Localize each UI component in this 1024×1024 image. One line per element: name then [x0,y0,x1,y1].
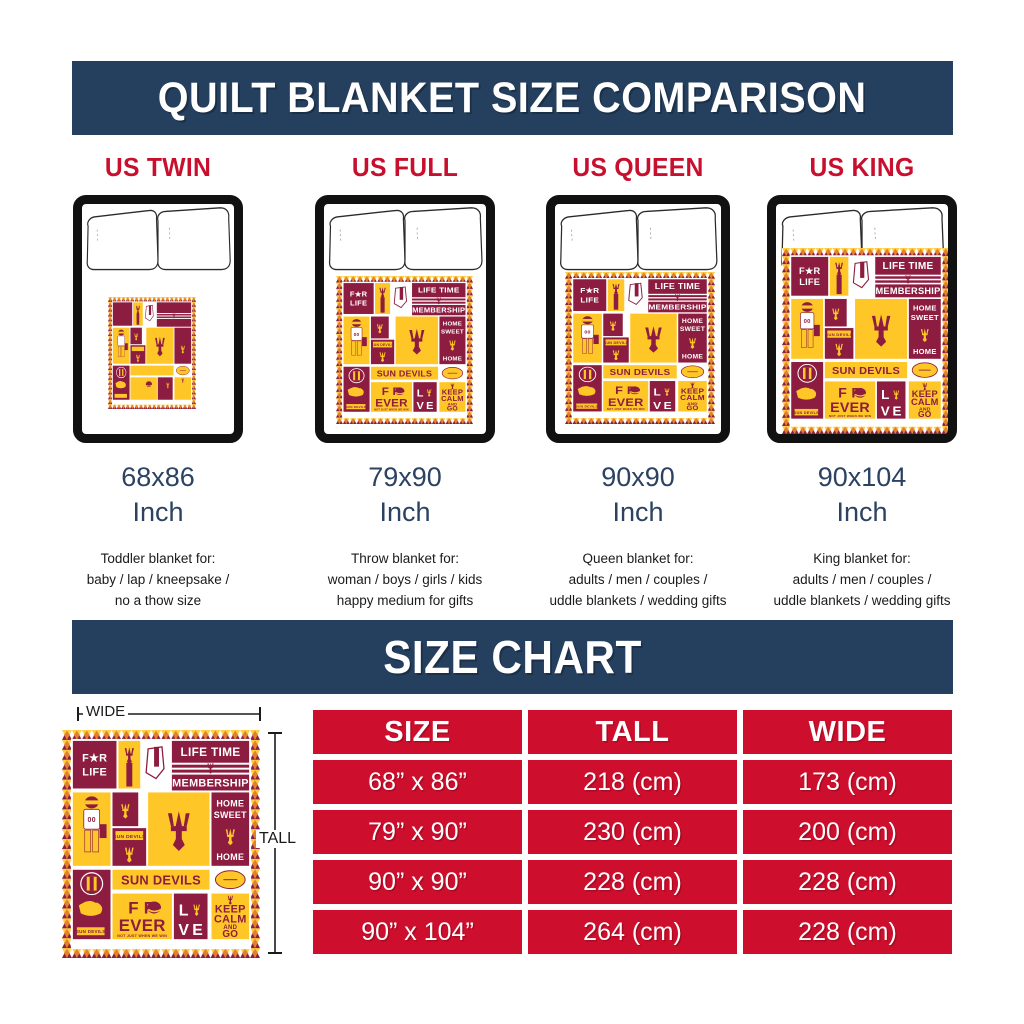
size-description-twin: Toddler blanket for: baby / lap / kneeps… [44,549,272,612]
size-dimensions-queen: 90x90Inch [524,460,752,529]
size-title-full: US FULL [297,152,514,183]
bed-illustration-queen: F★R LIFE LIFE TIME MEMBERSHIP 00 [546,195,730,443]
helmet-icon [630,386,641,394]
svg-text:SUN DEVILS: SUN DEVILS [576,405,598,409]
table-cell-size: 90” x 104” [313,910,522,954]
svg-text:HOME: HOME [443,322,462,328]
svg-text:CALM: CALM [911,397,939,407]
table-cell-wide: 228 (cm) [743,860,952,904]
svg-text:LIFE TIME: LIFE TIME [180,745,240,759]
size-description-queen: Queen blanket for: adults / men / couple… [524,549,752,612]
svg-text:LIFE TIME: LIFE TIME [418,286,460,295]
table-cell-tall: 264 (cm) [528,910,737,954]
svg-text:SWEET: SWEET [214,810,247,820]
top-banner-title: QUILT BLANKET SIZE COMPARISON [158,74,867,123]
sun-devils-quilt-art: F★R LIFE LIFE TIME MEMBERSHIP 00 [782,248,950,434]
svg-text:SUN DEVILS: SUN DEVILS [610,368,671,377]
football-icon [176,366,189,375]
svg-text:GO: GO [222,929,238,940]
table-cell-wide: 173 (cm) [743,760,952,804]
svg-text:CALM: CALM [214,913,247,925]
svg-text:SWEET: SWEET [911,313,939,322]
pillows-icon [555,206,721,280]
size-chart-banner-title: SIZE CHART [383,630,642,684]
svg-text:GO: GO [447,406,458,413]
size-title-queen: US QUEEN [530,152,747,183]
sun-devils-quilt-art: F★R LIFE LIFE TIME MEMBERSHIP 00 [565,272,715,424]
svg-text:HOME: HOME [913,347,937,356]
svg-text:EVER: EVER [608,396,644,409]
sun-devils-quilt-art: F★R LIFE LIFE TIME MEMBERSHIP 00 [336,276,473,424]
svg-text:LIFE: LIFE [350,299,367,308]
svg-text:SUN DEVILS: SUN DEVILS [346,405,367,409]
svg-text:F★R: F★R [580,287,599,295]
svg-text:NOT JUST WHEN WE WIN: NOT JUST WHEN WE WIN [117,934,167,938]
bed-illustration-twin [73,195,243,443]
football-icon [912,363,937,378]
table-header-row: SIZE TALL WIDE [313,710,958,754]
table-cell-tall: 228 (cm) [528,860,737,904]
svg-text:GO: GO [918,410,932,419]
table-cell-size: 90” x 90” [313,860,522,904]
svg-text:SUN DEVILS: SUN DEVILS [371,343,394,347]
size-column-queen: US QUEEN F★R LIFE [524,152,752,612]
pillows-icon [324,206,486,280]
size-column-twin: US TWIN [44,152,272,612]
svg-text:EVER: EVER [119,916,166,935]
svg-text:EVER: EVER [830,399,870,415]
sun-devils-quilt-art [108,297,196,409]
size-chart-table: SIZE TALL WIDE 68” x 86” 218 (cm) 173 (c… [313,710,958,960]
svg-text:NOT JUST WHEN WE WIN: NOT JUST WHEN WE WIN [829,414,871,418]
svg-text:SUN DEVILS: SUN DEVILS [121,873,201,888]
size-dimensions-king: 90x104Inch [748,460,976,529]
svg-text:V: V [178,922,189,939]
svg-text:V: V [881,404,890,419]
svg-text:HOME: HOME [216,852,244,862]
bed-illustration-full: F★R LIFE LIFE TIME MEMBERSHIP 00 [315,195,495,443]
helmet-icon [395,387,405,395]
svg-text:MEMBERSHIP: MEMBERSHIP [412,306,465,315]
svg-text:SUN DEVILS: SUN DEVILS [377,369,432,379]
svg-text:SUN DEVILS: SUN DEVILS [76,929,106,934]
table-cell-tall: 218 (cm) [528,760,737,804]
svg-text:HOME: HOME [443,356,462,362]
svg-text:LIFE: LIFE [799,277,820,287]
svg-text:E: E [192,922,203,939]
size-description-full: Throw blanket for: woman / boys / girls … [291,549,519,612]
table-header-tall: TALL [528,710,737,754]
pillows-icon [82,206,234,280]
svg-text:NOT JUST WHEN WE WIN: NOT JUST WHEN WE WIN [374,409,409,412]
football-icon [442,367,463,379]
svg-text:NOT JUST WHEN WE WIN: NOT JUST WHEN WE WIN [607,408,645,411]
helmet-icon [854,388,866,398]
table-header-wide: WIDE [743,710,952,754]
table-header-size: SIZE [313,710,522,754]
size-column-king: US KING F★R LIFE [748,152,976,612]
blanket-twin [108,297,196,409]
svg-text:F★R: F★R [799,266,821,276]
blanket-diagram-art: F★R LIFE LIFE TIME MEMBERSHIP 00 [62,730,260,958]
football-icon [215,871,245,889]
svg-text:LIFE: LIFE [82,767,107,779]
svg-text:E: E [664,400,672,411]
svg-text:SUN DEVILS: SUN DEVILS [794,411,819,415]
svg-text:EVER: EVER [375,398,408,410]
helmet-icon [146,381,152,387]
table-cell-size: 68” x 86” [313,760,522,804]
svg-text:SUN DEVILS: SUN DEVILS [825,332,853,337]
svg-text:00: 00 [88,817,96,824]
size-title-king: US KING [754,152,971,183]
table-row: 90” x 90” 228 (cm) 228 (cm) [313,860,958,904]
svg-text:MEMBERSHIP: MEMBERSHIP [172,777,249,789]
table-cell-size: 79” x 90” [313,810,522,854]
tall-measure-label: TALL [256,830,299,848]
svg-text:LIFE TIME: LIFE TIME [655,282,701,291]
table-cell-tall: 230 (cm) [528,810,737,854]
helmet-icon [147,901,161,913]
svg-text:MEMBERSHIP: MEMBERSHIP [648,303,706,311]
blanket-king: F★R LIFE LIFE TIME MEMBERSHIP 00 [782,248,950,434]
svg-text:SUN DEVILS: SUN DEVILS [604,341,629,345]
svg-text:F★R: F★R [350,290,368,299]
svg-text:LIFE: LIFE [580,296,599,304]
size-chart-banner: SIZE CHART [72,620,953,694]
svg-text:00: 00 [584,330,590,336]
size-description-king: King blanket for: adults / men / couples… [748,549,976,612]
blanket-full: F★R LIFE LIFE TIME MEMBERSHIP 00 [336,276,473,424]
table-row: 79” x 90” 230 (cm) 200 (cm) [313,810,958,854]
svg-text:SUN DEVILS: SUN DEVILS [832,365,900,377]
svg-text:F★R: F★R [82,753,107,765]
svg-text:E: E [426,400,434,412]
svg-text:V: V [653,400,661,411]
svg-text:HOME: HOME [682,354,703,361]
size-title-twin: US TWIN [50,152,267,183]
svg-text:GO: GO [686,405,698,412]
table-row: 68” x 86” 218 (cm) 173 (cm) [313,760,958,804]
wide-measure-label: WIDE [83,703,128,720]
svg-text:LIFE TIME: LIFE TIME [883,261,934,272]
size-dimensions-twin: 68x86Inch [44,460,272,529]
svg-text:E: E [892,404,901,419]
table-row: 90” x 104” 264 (cm) 228 (cm) [313,910,958,954]
svg-text:SWEET: SWEET [441,329,464,335]
table-cell-wide: 200 (cm) [743,810,952,854]
svg-text:V: V [416,400,424,412]
pillows-illustration [324,206,486,275]
size-dimensions-full: 79x90Inch [291,460,519,529]
size-column-full: US FULL F★R LIFE [291,152,519,612]
blanket-queen: F★R LIFE LIFE TIME MEMBERSHIP 00 [565,272,715,424]
table-cell-wide: 228 (cm) [743,910,952,954]
infographic-page: QUILT BLANKET SIZE COMPARISON US TWIN [0,0,1024,1024]
svg-text:SUN DEVILS: SUN DEVILS [113,834,146,840]
svg-text:00: 00 [354,332,360,337]
football-icon [681,366,704,378]
bed-illustration-king: F★R LIFE LIFE TIME MEMBERSHIP 00 [767,195,957,443]
svg-text:HOME: HOME [913,303,937,312]
svg-text:SWEET: SWEET [680,326,705,333]
svg-text:HOME: HOME [682,318,703,325]
pillows-illustration [555,206,721,275]
pillows-illustration [82,206,234,275]
top-banner: QUILT BLANKET SIZE COMPARISON [72,61,953,135]
sun-devils-quilt-art: F★R LIFE LIFE TIME MEMBERSHIP 00 [62,730,260,958]
svg-text:HOME: HOME [216,798,244,808]
svg-text:MEMBERSHIP: MEMBERSHIP [876,286,941,296]
svg-text:00: 00 [804,319,811,325]
